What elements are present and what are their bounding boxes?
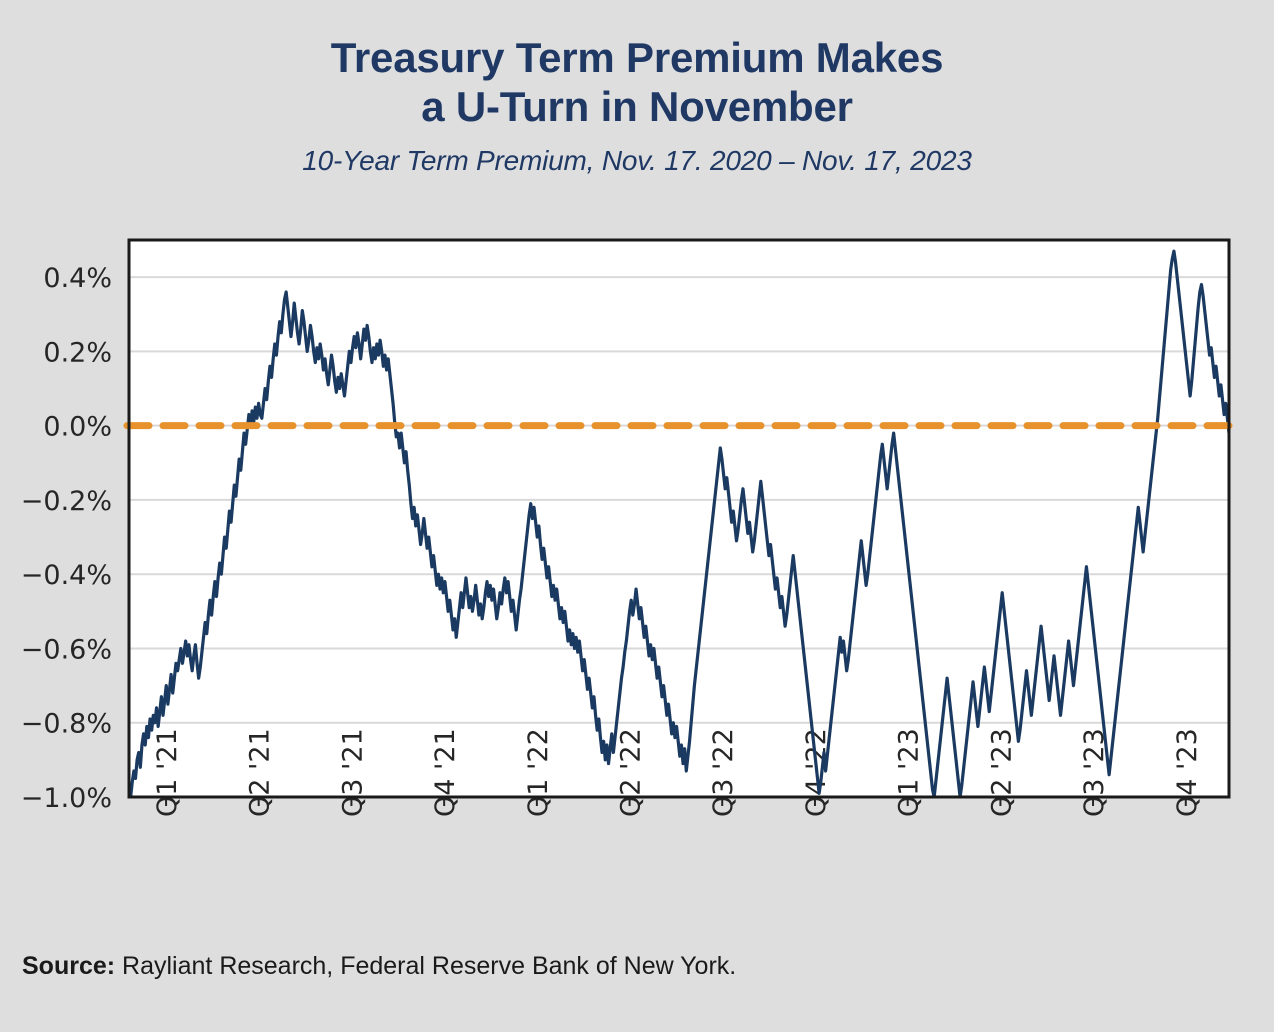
source-text: Rayliant Research, Federal Reserve Bank … xyxy=(122,952,736,980)
source-label: Source: xyxy=(22,952,115,980)
x-tick-label: Q1 '21 xyxy=(152,728,183,817)
y-tick-label: −0.2% xyxy=(21,486,112,517)
y-tick-label: 0.0% xyxy=(43,412,112,443)
source-note: Source: Rayliant Research, Federal Reser… xyxy=(22,952,736,981)
x-tick-label: Q2 '22 xyxy=(616,728,647,817)
y-tick-label: −0.4% xyxy=(21,560,112,591)
y-tick-label: −0.8% xyxy=(21,709,112,740)
line-chart-plot: 0.4%0.2%0.0%−0.2%−0.4%−0.6%−0.8%−1.0%Q1 … xyxy=(0,0,1274,932)
y-axis-tick-labels: 0.4%0.2%0.0%−0.2%−0.4%−0.6%−0.8%−1.0% xyxy=(21,263,112,814)
x-tick-label: Q4 '21 xyxy=(430,728,461,817)
x-tick-label: Q1 '22 xyxy=(523,728,554,817)
x-tick-label: Q1 '23 xyxy=(894,728,925,817)
y-tick-label: 0.2% xyxy=(43,337,112,368)
x-tick-label: Q2 '21 xyxy=(245,728,276,817)
y-tick-label: −1.0% xyxy=(21,783,112,814)
x-tick-label: Q3 '22 xyxy=(708,728,739,817)
y-tick-label: −0.6% xyxy=(21,634,112,665)
y-tick-label: 0.4% xyxy=(43,263,112,294)
x-tick-label: Q2 '23 xyxy=(986,728,1017,817)
x-tick-label: Q4 '23 xyxy=(1172,728,1203,817)
chart-figure: Treasury Term Premium Makes a U-Turn in … xyxy=(0,0,1274,1032)
x-tick-label: Q3 '21 xyxy=(337,728,368,817)
